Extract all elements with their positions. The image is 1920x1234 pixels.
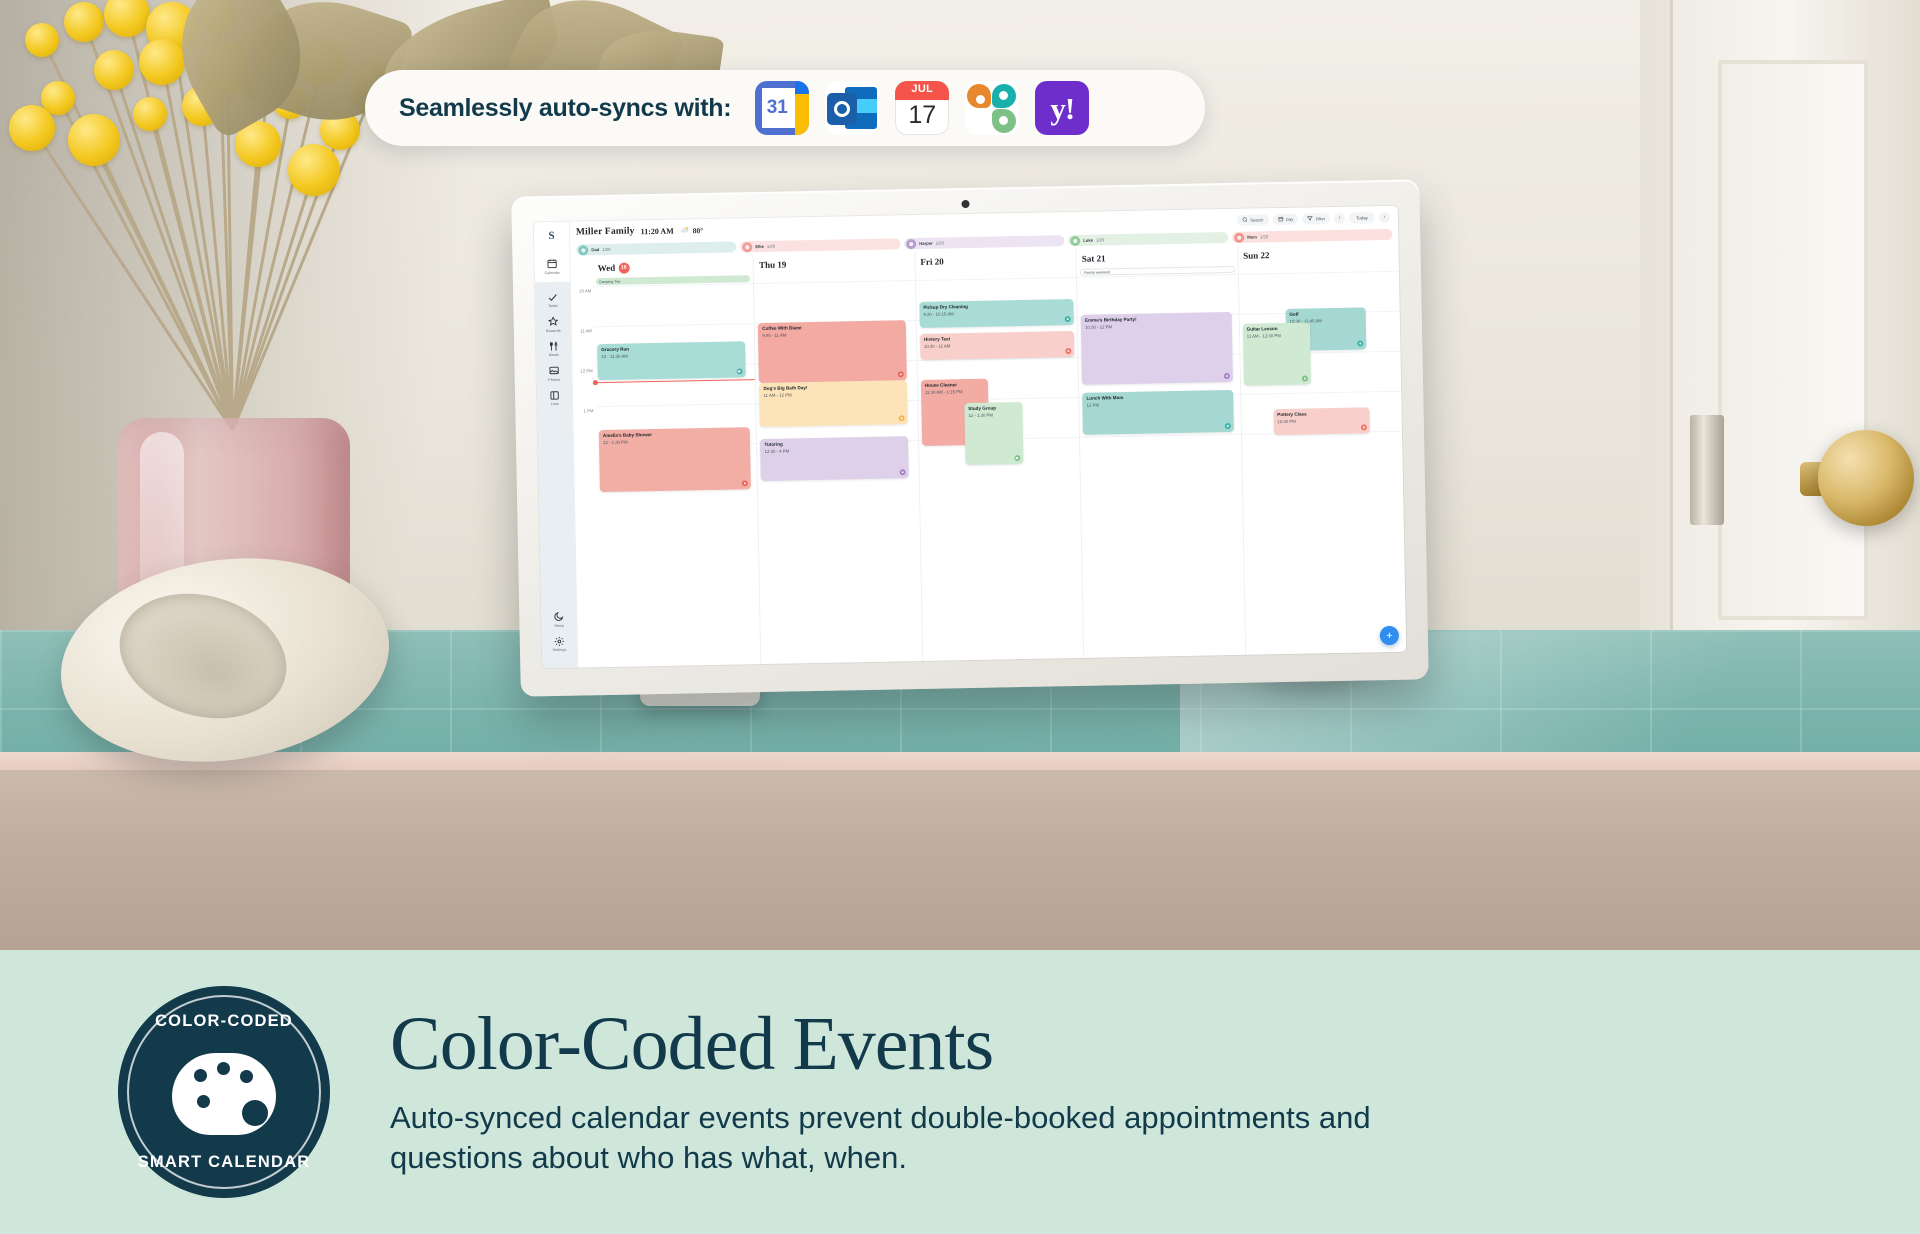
star-icon <box>548 316 559 327</box>
sidebar-item-settings[interactable]: Settings <box>542 635 577 652</box>
sidebar-label-meals: Meals <box>549 353 559 357</box>
smart-calendar-display: S Calendar Tasks <box>511 179 1428 696</box>
today-badge: 18 <box>618 262 629 273</box>
cozi-icon <box>965 81 1019 135</box>
apple-calendar-day: 17 <box>895 101 949 130</box>
sidebar-item-photos[interactable]: Photos <box>537 365 572 382</box>
flower-head <box>25 23 59 57</box>
calendar-event[interactable]: Amelia's Baby Shower12 - 1:30 PM <box>599 427 751 492</box>
day-column: Wed18Camping TripGrocery Run10 - 11:30 A… <box>592 255 760 667</box>
page-title: Miller Family <box>576 226 635 237</box>
event-member-avatar <box>742 480 748 486</box>
gear-icon <box>554 635 565 646</box>
member-count: 1/20 <box>936 240 944 245</box>
day-columns: Wed18Camping TripGrocery Run10 - 11:30 A… <box>592 243 1406 667</box>
member-count: 1/20 <box>1260 234 1268 239</box>
filter-label: Filter <box>1316 216 1325 221</box>
calendar-icon <box>546 258 557 269</box>
filter-icon <box>1307 215 1313 221</box>
day-name: Thu 19 <box>759 259 786 270</box>
calendar-main: Miller Family 11:20 AM 80° <box>570 206 1406 668</box>
day-name: Fri 20 <box>920 256 943 266</box>
event-member-avatar <box>1302 376 1308 382</box>
event-member-avatar <box>1064 316 1070 322</box>
sync-banner: Seamlessly auto-syncs with: 31 JUL 17 <box>365 70 1205 146</box>
seal-top-text: COLOR-CODED <box>118 1012 330 1031</box>
calendar-event[interactable]: History Test10:30 - 11 AM <box>920 331 1074 360</box>
day-header[interactable]: Thu 19 <box>754 252 915 275</box>
event-time: 12 - 1:30 PM <box>968 412 1018 418</box>
next-button[interactable]: › <box>1379 211 1390 222</box>
event-time: 11:30 AM - 1:15 PM <box>925 388 984 394</box>
sidebar-label-lists: Lists <box>551 402 559 406</box>
sync-icon-row: 31 JUL 17 y! <box>755 81 1089 135</box>
event-member-avatar <box>1065 348 1071 354</box>
feature-headline: Color-Coded Events <box>390 1006 1470 1082</box>
filter-button[interactable]: Filter <box>1302 213 1330 225</box>
day-header[interactable]: Sun 22 <box>1238 243 1399 266</box>
event-member-avatar <box>898 371 904 377</box>
apple-calendar-month: JUL <box>895 83 949 95</box>
palette-icon <box>172 1053 276 1135</box>
flower-head <box>9 105 55 151</box>
member-chip[interactable]: Dad1/20 <box>576 241 736 255</box>
outlook-icon <box>825 81 879 135</box>
hour-label: 10 AM <box>579 288 591 293</box>
flower-head <box>94 50 134 90</box>
event-time: 12:30 PM <box>1277 417 1365 424</box>
sidebar-items: Tasks Rewards Meals <box>535 281 577 668</box>
clock: 11:20 AM <box>641 226 674 236</box>
sidebar-item-meals[interactable]: Meals <box>536 340 571 357</box>
moon-icon <box>553 611 564 622</box>
flower-head <box>139 39 185 85</box>
calendar-app: S Calendar Tasks <box>534 206 1406 669</box>
counter-front <box>0 770 1920 950</box>
view-label: Day <box>1286 216 1294 221</box>
camera-icon <box>961 200 969 208</box>
event-member-avatar <box>1014 455 1020 461</box>
member-chip[interactable]: Harper1/20 <box>904 235 1064 249</box>
day-name: Wed <box>598 263 616 273</box>
event-member-avatar <box>900 469 906 475</box>
member-name: Luke <box>1083 238 1093 243</box>
search-label: Search <box>1250 217 1263 222</box>
list-icon <box>549 389 560 400</box>
day-header[interactable]: Wed18 <box>592 255 753 278</box>
event-member-avatar <box>899 415 905 421</box>
calendar-event[interactable]: Pickup Dry Cleaning9:30 - 10:15 AM <box>919 299 1073 328</box>
day-name: Sun 22 <box>1243 250 1269 261</box>
sidebar-label-sleep: Sleep <box>554 623 564 627</box>
member-avatar <box>1234 232 1244 242</box>
member-name: Dad <box>591 247 599 252</box>
member-avatar <box>1070 235 1080 245</box>
event-member-avatar <box>1361 424 1367 430</box>
sidebar-item-rewards[interactable]: Rewards <box>536 316 571 333</box>
view-toggle-button[interactable]: Day <box>1272 213 1298 224</box>
member-chip[interactable]: Luke1/20 <box>1068 232 1228 246</box>
member-count: 1/20 <box>767 244 775 249</box>
seal-bottom-text: SMART CALENDAR <box>118 1153 330 1172</box>
calendar-event[interactable]: Guitar Lesson11 AM - 12:30 PM <box>1242 322 1311 385</box>
google-calendar-day: 31 <box>755 97 799 119</box>
feature-text: Color-Coded Events Auto-synced calendar … <box>390 1006 1470 1177</box>
day-column: Thu 19Coffee With Diane9:45 - 11 AMDog's… <box>753 252 922 664</box>
sidebar-item-calendar[interactable]: Calendar <box>534 258 569 275</box>
flower-head <box>68 114 120 166</box>
event-title: House Cleaner <box>925 382 984 389</box>
current-time-dot <box>593 380 598 385</box>
calendar-event[interactable]: Dog's Big Bath Day!11 AM - 12 PM <box>759 380 907 427</box>
utensils-icon <box>548 340 559 351</box>
check-icon <box>547 291 558 302</box>
sidebar-label-tasks: Tasks <box>548 304 558 308</box>
weather-widget: 80° <box>680 225 704 235</box>
color-coded-seal: COLOR-CODED SMART CALENDAR <box>118 986 330 1198</box>
feature-subtext: Auto-synced calendar events prevent doub… <box>390 1098 1470 1177</box>
flower-head <box>288 144 340 196</box>
day-column: Sat 21Family weekendEmma's Birthday Part… <box>1076 246 1245 658</box>
calendar-event[interactable]: Coffee With Diane9:45 - 11 AM <box>758 320 907 383</box>
calendar-event[interactable]: Grocery Run10 - 11:30 AM <box>597 341 745 380</box>
temperature: 80° <box>693 226 704 235</box>
prev-button[interactable]: ‹ <box>1334 212 1345 223</box>
member-avatar <box>906 238 916 248</box>
sidebar-label-settings: Settings <box>553 648 567 652</box>
product-photo-scene: S Calendar Tasks <box>0 0 1920 950</box>
calendar-event[interactable]: Study Group12 - 1:30 PM <box>964 402 1023 465</box>
event-member-avatar <box>1225 423 1231 429</box>
yahoo-logo-text: y! <box>1050 93 1074 124</box>
calendar-event[interactable]: Emma's Birthday Party!10:30 - 12 PM <box>1081 312 1233 385</box>
day-header[interactable]: Sat 21 <box>1077 246 1238 269</box>
sidebar-top: S Calendar <box>534 230 570 282</box>
day-header[interactable]: Fri 20 <box>915 249 1076 272</box>
yahoo-icon: y! <box>1035 81 1089 135</box>
hour-label: 11 AM <box>580 328 592 333</box>
app-logo: S <box>548 230 554 242</box>
sidebar-item-lists[interactable]: Lists <box>537 389 572 406</box>
search-icon <box>1242 217 1248 223</box>
partly-cloudy-icon <box>680 225 690 235</box>
member-count: 1/20 <box>602 247 610 252</box>
today-button[interactable]: Today <box>1349 212 1375 223</box>
day-view-icon <box>1277 216 1283 222</box>
door-hinge <box>1690 415 1724 525</box>
member-name: Harper <box>919 241 933 246</box>
apple-calendar-icon: JUL 17 <box>895 81 949 135</box>
google-calendar-icon: 31 <box>755 81 809 135</box>
day-column: Sun 22Golf10:30 - 11:45 AMGuitar Lesson1… <box>1237 243 1406 655</box>
top-bar-actions: Search Day Filter ‹ <box>1236 211 1389 225</box>
flower-head <box>64 2 104 42</box>
calendar-event[interactable]: Tutoring12:30 - 4 PM <box>760 436 908 481</box>
member-name: Mom <box>1247 234 1257 239</box>
search-button[interactable]: Search <box>1236 214 1268 226</box>
event-member-avatar <box>1224 373 1230 379</box>
member-avatar <box>578 245 588 255</box>
sidebar-bottom: Sleep Settings <box>541 605 577 661</box>
display-screen: S Calendar Tasks <box>534 206 1406 669</box>
event-member-avatar <box>1357 340 1363 346</box>
flower-head <box>133 97 167 131</box>
sidebar-item-tasks[interactable]: Tasks <box>535 291 570 308</box>
photo-icon <box>549 365 560 376</box>
day-name: Sat 21 <box>1082 253 1106 263</box>
sidebar-label-calendar: Calendar <box>545 270 560 274</box>
sidebar-item-sleep[interactable]: Sleep <box>541 611 576 628</box>
day-column: Fri 20Pickup Dry Cleaning9:30 - 10:15 AM… <box>914 249 1083 661</box>
sync-banner-text: Seamlessly auto-syncs with: <box>399 94 731 123</box>
hour-label: 1 PM <box>584 408 594 413</box>
sidebar-label-photos: Photos <box>548 377 560 381</box>
event-member-avatar <box>736 368 742 374</box>
feature-band: COLOR-CODED SMART CALENDAR Color-Coded E… <box>0 950 1920 1234</box>
calendar-grid: 10 AM11 AM12 PM1 PM Wed18Camping TripGro… <box>570 243 1406 668</box>
event-title: Guitar Lesson <box>1247 326 1306 333</box>
display-bezel: S Calendar Tasks <box>511 179 1428 696</box>
event-time: 11 AM - 12:30 PM <box>1247 332 1306 338</box>
calendar-event[interactable]: Pottery Class12:30 PM <box>1273 407 1370 435</box>
doorknob <box>1818 430 1914 526</box>
calendar-event[interactable]: Lunch With Mom12 PM <box>1082 390 1234 435</box>
member-chip[interactable]: Ellie1/20 <box>740 238 900 252</box>
hour-label: 12 PM <box>580 368 592 373</box>
member-avatar <box>742 242 752 252</box>
member-count: 1/20 <box>1096 237 1104 242</box>
member-chip[interactable]: Mom1/20 <box>1232 229 1392 243</box>
member-name: Ellie <box>755 244 764 249</box>
event-title: Study Group <box>968 405 1018 412</box>
door-inset <box>1718 60 1868 620</box>
sidebar-label-rewards: Rewards <box>546 328 561 332</box>
